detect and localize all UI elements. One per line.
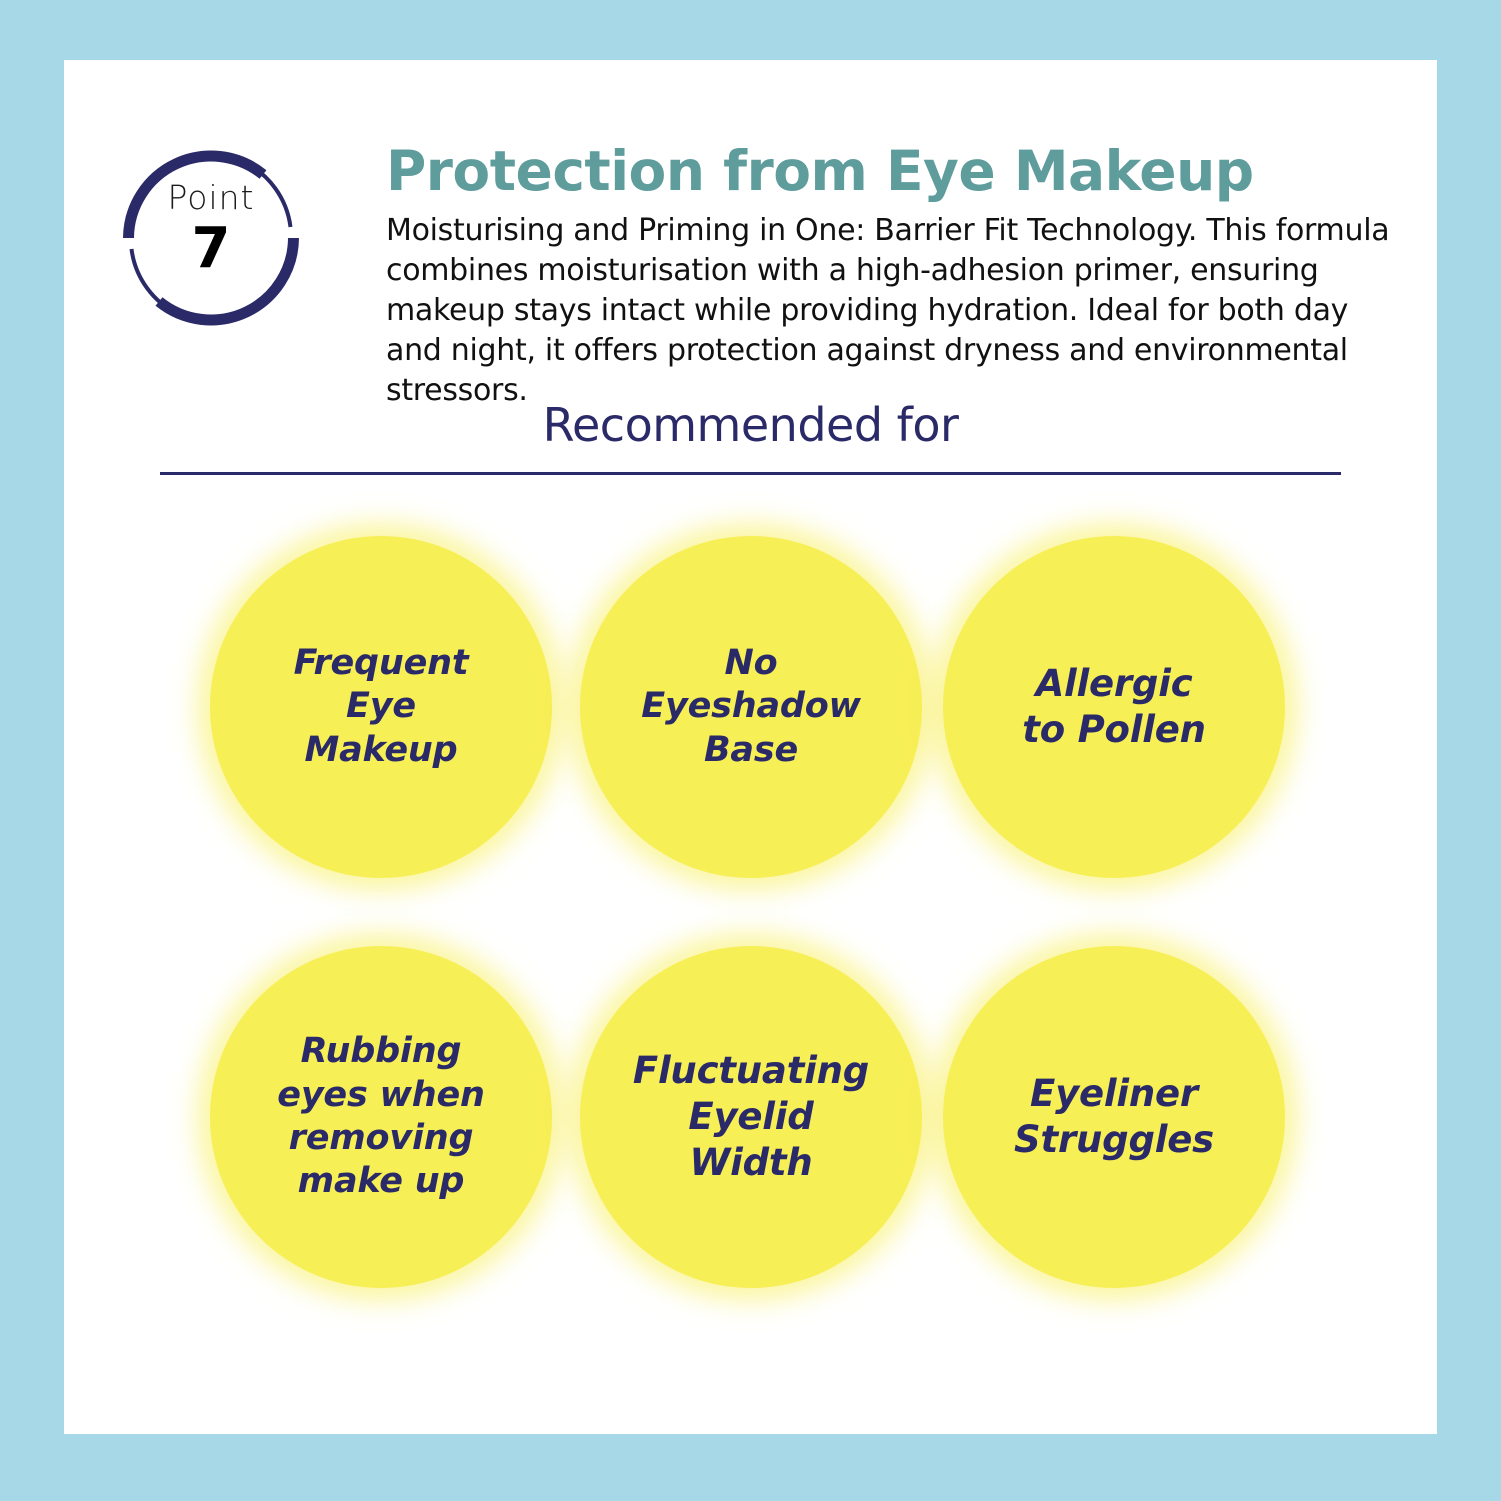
header-text-block: Protection from Eye Makeup Moisturising … xyxy=(386,142,1393,411)
bubble-label: No Eyeshadow Base xyxy=(623,642,878,772)
bubble-grid: Frequent Eye Makeup No Eyeshadow Base Al… xyxy=(64,502,1437,1382)
bubble-row-2: Rubbing eyes when removing make up Fluct… xyxy=(64,912,1437,1322)
bubble-label: Frequent Eye Makeup xyxy=(276,642,487,772)
page-title: Protection from Eye Makeup xyxy=(386,142,1393,201)
page-description: Moisturising and Priming in One: Barrier… xyxy=(386,211,1393,410)
section-divider xyxy=(160,472,1341,475)
bubble-allergic-to-pollen: Allergic to Pollen xyxy=(943,536,1285,878)
bubble-label: Allergic to Pollen xyxy=(1004,661,1224,753)
bubble-label: Rubbing eyes when removing make up xyxy=(259,1030,502,1204)
header-section: Point 7 Protection from Eye Makeup Moist… xyxy=(64,60,1437,390)
bubble-frequent-eye-makeup: Frequent Eye Makeup xyxy=(210,536,552,878)
bubble-rubbing-eyes: Rubbing eyes when removing make up xyxy=(210,946,552,1288)
recommended-for-heading: Recommended for xyxy=(64,400,1437,451)
bubble-label: Fluctuating Eyelid Width xyxy=(615,1048,887,1186)
poster-canvas: Point 7 Protection from Eye Makeup Moist… xyxy=(0,0,1501,1501)
bubble-fluctuating-eyelid-width: Fluctuating Eyelid Width xyxy=(580,946,922,1288)
bubble-row-1: Frequent Eye Makeup No Eyeshadow Base Al… xyxy=(64,502,1437,912)
recommended-for-section: Recommended for xyxy=(64,400,1437,475)
point-badge: Point 7 xyxy=(118,145,304,331)
point-badge-number: 7 xyxy=(118,221,304,277)
bubble-eyeliner-struggles: Eyeliner Struggles xyxy=(943,946,1285,1288)
bubble-label: Eyeliner Struggles xyxy=(996,1071,1232,1163)
content-panel: Point 7 Protection from Eye Makeup Moist… xyxy=(64,60,1437,1434)
point-badge-label: Point xyxy=(118,181,304,214)
bubble-no-eyeshadow-base: No Eyeshadow Base xyxy=(580,536,922,878)
